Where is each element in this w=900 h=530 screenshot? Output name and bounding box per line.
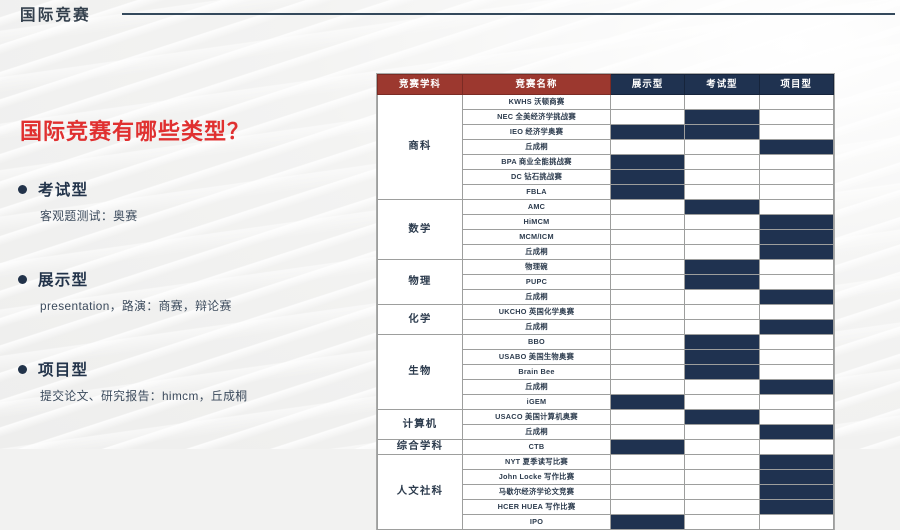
type-mark-cell: [759, 305, 833, 320]
table-header-cell: 竞赛名称: [463, 75, 611, 95]
subject-cell: 综合学科: [378, 440, 463, 455]
bullet-head: 展示型: [18, 268, 232, 290]
type-mark-cell: [611, 365, 685, 380]
competition-name-cell: BPA 商业全能挑战赛: [463, 155, 611, 170]
table-header-cell: 竞赛学科: [378, 75, 463, 95]
type-mark-cell: [759, 440, 833, 455]
type-mark-cell: [611, 170, 685, 185]
table-row: 化学UKCHO 英国化学奥赛: [378, 305, 834, 320]
type-mark-cell: [685, 350, 759, 365]
type-mark-cell: [611, 425, 685, 440]
type-mark-cell: [685, 320, 759, 335]
type-mark-cell: [611, 230, 685, 245]
type-mark-cell: [611, 500, 685, 515]
slide-header: 国际竞赛: [0, 0, 900, 32]
competition-name-cell: NEC 全美经济学挑战赛: [463, 110, 611, 125]
table-header-cell: 项目型: [759, 75, 833, 95]
competition-table-wrapper: 竞赛学科竞赛名称展示型考试型项目型 商科KWHS 沃顿商赛NEC 全美经济学挑战…: [377, 74, 833, 530]
bullet-head: 考试型: [18, 178, 138, 200]
type-mark-cell: [685, 425, 759, 440]
table-header-row: 竞赛学科竞赛名称展示型考试型项目型: [378, 75, 834, 95]
type-mark-cell: [759, 230, 833, 245]
type-mark-cell: [759, 380, 833, 395]
header-title: 国际竞赛: [20, 3, 91, 25]
bullet-subtitle: 客观题测试：奥赛: [40, 207, 138, 224]
competition-name-cell: CTB: [463, 440, 611, 455]
type-mark-cell: [685, 110, 759, 125]
type-mark-cell: [759, 455, 833, 470]
subject-cell: 数学: [378, 200, 463, 260]
type-mark-cell: [759, 365, 833, 380]
competition-name-cell: 丘成桐: [463, 380, 611, 395]
table-body: 商科KWHS 沃顿商赛NEC 全美经济学挑战赛IEO 经济学奥赛丘成桐BPA 商…: [378, 95, 834, 530]
competition-name-cell: 丘成桐: [463, 320, 611, 335]
type-mark-cell: [611, 125, 685, 140]
type-mark-cell: [611, 155, 685, 170]
type-mark-cell: [685, 380, 759, 395]
type-mark-cell: [685, 155, 759, 170]
type-mark-cell: [759, 200, 833, 215]
competition-name-cell: HiMCM: [463, 215, 611, 230]
type-mark-cell: [685, 365, 759, 380]
type-mark-cell: [759, 335, 833, 350]
competition-name-cell: AMC: [463, 200, 611, 215]
type-mark-cell: [685, 245, 759, 260]
type-mark-cell: [685, 440, 759, 455]
type-mark-cell: [611, 455, 685, 470]
type-mark-cell: [611, 110, 685, 125]
type-mark-cell: [685, 410, 759, 425]
type-mark-cell: [685, 335, 759, 350]
type-mark-cell: [759, 260, 833, 275]
type-mark-cell: [759, 125, 833, 140]
type-mark-cell: [685, 305, 759, 320]
bullet-dot-icon: [18, 185, 27, 194]
type-mark-cell: [611, 440, 685, 455]
type-mark-cell: [611, 200, 685, 215]
bullet-subtitle: 提交论文、研究报告：himcm，丘成桐: [40, 387, 248, 404]
type-mark-cell: [685, 260, 759, 275]
bullet-title: 展示型: [38, 268, 88, 290]
competition-name-cell: FBLA: [463, 185, 611, 200]
type-mark-cell: [611, 515, 685, 530]
type-mark-cell: [685, 485, 759, 500]
type-mark-cell: [685, 170, 759, 185]
type-mark-cell: [759, 215, 833, 230]
type-mark-cell: [611, 485, 685, 500]
competition-name-cell: 丘成桐: [463, 425, 611, 440]
page-title: 国际竞赛有哪些类型？: [20, 114, 250, 146]
type-mark-cell: [611, 410, 685, 425]
table-row: 生物BBO: [378, 335, 834, 350]
competition-name-cell: NYT 夏季读写比赛: [463, 455, 611, 470]
type-mark-cell: [611, 290, 685, 305]
type-mark-cell: [611, 275, 685, 290]
type-mark-cell: [611, 260, 685, 275]
competition-name-cell: USACO 美国计算机奥赛: [463, 410, 611, 425]
competition-name-cell: MCM/ICM: [463, 230, 611, 245]
type-mark-cell: [685, 125, 759, 140]
header-rule: [122, 13, 895, 15]
competition-name-cell: IEO 经济学奥赛: [463, 125, 611, 140]
type-mark-cell: [685, 215, 759, 230]
subject-cell: 生物: [378, 335, 463, 410]
type-mark-cell: [759, 170, 833, 185]
type-mark-cell: [685, 140, 759, 155]
bullet-block-exam: 考试型 客观题测试：奥赛: [18, 178, 138, 224]
type-mark-cell: [611, 185, 685, 200]
type-mark-cell: [685, 230, 759, 245]
type-mark-cell: [759, 290, 833, 305]
type-mark-cell: [759, 245, 833, 260]
type-mark-cell: [759, 410, 833, 425]
type-mark-cell: [759, 155, 833, 170]
competition-name-cell: IPO: [463, 515, 611, 530]
competition-name-cell: iGEM: [463, 395, 611, 410]
type-mark-cell: [759, 275, 833, 290]
competition-name-cell: 丘成桐: [463, 140, 611, 155]
competition-name-cell: BBO: [463, 335, 611, 350]
type-mark-cell: [611, 140, 685, 155]
type-mark-cell: [685, 275, 759, 290]
bullet-title: 考试型: [38, 178, 88, 200]
table-row: 计算机USACO 美国计算机奥赛: [378, 410, 834, 425]
type-mark-cell: [611, 470, 685, 485]
table-head: 竞赛学科竞赛名称展示型考试型项目型: [378, 75, 834, 95]
type-mark-cell: [611, 335, 685, 350]
type-mark-cell: [685, 290, 759, 305]
subject-cell: 化学: [378, 305, 463, 335]
competition-name-cell: DC 钻石挑战赛: [463, 170, 611, 185]
competition-table: 竞赛学科竞赛名称展示型考试型项目型 商科KWHS 沃顿商赛NEC 全美经济学挑战…: [377, 74, 834, 530]
type-mark-cell: [611, 305, 685, 320]
type-mark-cell: [611, 380, 685, 395]
competition-name-cell: 丘成桐: [463, 290, 611, 305]
type-mark-cell: [685, 500, 759, 515]
bullet-subtitle: presentation，路演：商赛，辩论赛: [40, 297, 232, 314]
type-mark-cell: [611, 395, 685, 410]
type-mark-cell: [611, 350, 685, 365]
bullet-dot-icon: [18, 275, 27, 284]
type-mark-cell: [759, 140, 833, 155]
type-mark-cell: [685, 515, 759, 530]
subject-cell: 商科: [378, 95, 463, 200]
type-mark-cell: [759, 425, 833, 440]
bullet-block-presentation: 展示型 presentation，路演：商赛，辩论赛: [18, 268, 232, 314]
competition-name-cell: Brain Bee: [463, 365, 611, 380]
competition-name-cell: USABO 美国生物奥赛: [463, 350, 611, 365]
slide-canvas: 国际竞赛 国际竞赛有哪些类型？ 考试型 客观题测试：奥赛 展示型 present…: [0, 0, 900, 449]
type-mark-cell: [685, 455, 759, 470]
type-mark-cell: [759, 470, 833, 485]
type-mark-cell: [759, 185, 833, 200]
type-mark-cell: [759, 515, 833, 530]
competition-name-cell: PUPC: [463, 275, 611, 290]
bullet-block-project: 项目型 提交论文、研究报告：himcm，丘成桐: [18, 358, 248, 404]
type-mark-cell: [759, 320, 833, 335]
subject-cell: 人文社科: [378, 455, 463, 530]
table-row: 物理物理碗: [378, 260, 834, 275]
bullet-dot-icon: [18, 365, 27, 374]
type-mark-cell: [759, 110, 833, 125]
subject-cell: 计算机: [378, 410, 463, 440]
table-row: 综合学科CTB: [378, 440, 834, 455]
type-mark-cell: [685, 185, 759, 200]
table-header-cell: 展示型: [611, 75, 685, 95]
table-header-cell: 考试型: [685, 75, 759, 95]
competition-name-cell: UKCHO 英国化学奥赛: [463, 305, 611, 320]
type-mark-cell: [759, 350, 833, 365]
competition-name-cell: HCER HUEA 写作比赛: [463, 500, 611, 515]
type-mark-cell: [759, 95, 833, 110]
type-mark-cell: [611, 320, 685, 335]
type-mark-cell: [685, 200, 759, 215]
table-row: 数学AMC: [378, 200, 834, 215]
table-row: 人文社科NYT 夏季读写比赛: [378, 455, 834, 470]
type-mark-cell: [685, 95, 759, 110]
table-row: 商科KWHS 沃顿商赛: [378, 95, 834, 110]
type-mark-cell: [611, 215, 685, 230]
competition-name-cell: KWHS 沃顿商赛: [463, 95, 611, 110]
type-mark-cell: [759, 500, 833, 515]
type-mark-cell: [611, 95, 685, 110]
bullet-title: 项目型: [38, 358, 88, 380]
competition-name-cell: 物理碗: [463, 260, 611, 275]
type-mark-cell: [759, 395, 833, 410]
type-mark-cell: [611, 245, 685, 260]
bullet-head: 项目型: [18, 358, 248, 380]
competition-name-cell: 马歇尔经济学论文竞赛: [463, 485, 611, 500]
subject-cell: 物理: [378, 260, 463, 305]
type-mark-cell: [685, 395, 759, 410]
competition-name-cell: 丘成桐: [463, 245, 611, 260]
competition-name-cell: John Locke 写作比赛: [463, 470, 611, 485]
type-mark-cell: [759, 485, 833, 500]
type-mark-cell: [685, 470, 759, 485]
